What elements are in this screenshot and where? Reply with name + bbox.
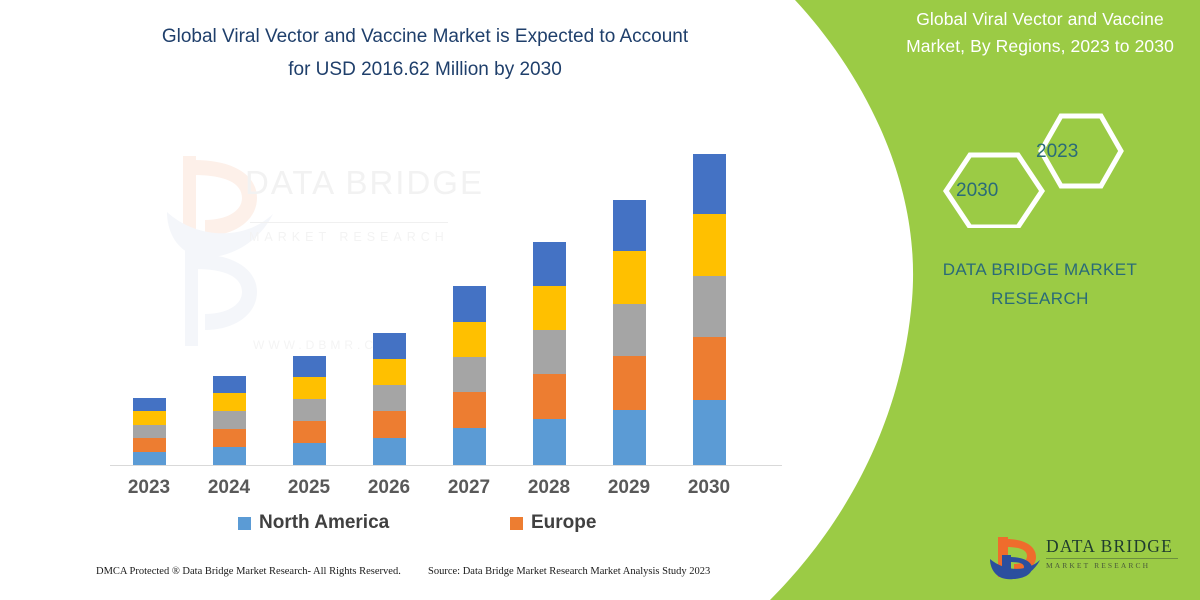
x-axis-label-2027: 2027 [429,477,509,499]
logo-text-block: DATA BRIDGE MARKET RESEARCH [1046,536,1186,570]
x-axis-line [110,465,782,466]
legend-item-europe[interactable]: Europe [510,512,596,534]
x-axis-label-2028: 2028 [509,477,589,499]
bar-segment-middle-east-and-africa [293,356,326,377]
logo-mark-icon [988,533,1044,583]
bar-segment-north-america [453,428,486,466]
panel-brand-name: DATA BRIDGE MARKET RESEARCH [880,255,1200,313]
bar-segment-asia-pacific [133,425,166,438]
bar-2030[interactable] [693,154,726,466]
legend-swatch-icon [510,517,523,530]
infographic-root: Global Viral Vector and Vaccine Market, … [0,0,1200,600]
chart-title-line-1: Global Viral Vector and Vaccine Market i… [60,20,790,53]
bar-segment-south-america [373,359,406,385]
bar-segment-south-america [613,251,646,304]
footer-copyright: DMCA Protected ® Data Bridge Market Rese… [96,566,401,577]
bar-segment-asia-pacific [693,276,726,337]
bar-segment-europe [693,337,726,400]
bar-segment-asia-pacific [533,330,566,374]
bar-segment-asia-pacific [373,385,406,411]
bar-segment-north-america [533,419,566,466]
bar-segment-middle-east-and-africa [693,154,726,214]
panel-title: Global Viral Vector and Vaccine Market, … [880,6,1200,60]
hexagon-2023-label: 2023 [1036,141,1078,163]
bar-segment-europe [533,374,566,419]
bar-segment-middle-east-and-africa [613,200,646,251]
bar-segment-middle-east-and-africa [373,333,406,359]
bar-segment-middle-east-and-africa [533,242,566,286]
chart-title-line-2: for USD 2016.62 Million by 2030 [60,53,790,86]
bar-2027[interactable] [453,286,486,466]
x-axis-label-2024: 2024 [189,477,269,499]
panel-title-line-2: Market, By Regions, 2023 to 2030 [880,33,1200,60]
bar-segment-south-america [213,393,246,411]
x-axis-label-2026: 2026 [349,477,429,499]
bar-segment-europe [453,392,486,428]
x-axis-label-2030: 2030 [669,477,749,499]
x-axis-labels: 20232024202520262027202820292030 [110,477,782,505]
bar-segment-north-america [293,443,326,466]
x-axis-label-2025: 2025 [269,477,349,499]
bar-2028[interactable] [533,242,566,466]
hexagon-svg [910,108,1170,228]
green-panel-content: Global Viral Vector and Vaccine Market, … [880,0,1200,600]
bar-2026[interactable] [373,333,406,466]
bar-segment-asia-pacific [293,399,326,421]
bar-segment-north-america [693,400,726,466]
chart-title: Global Viral Vector and Vaccine Market i… [60,20,790,86]
x-axis-label-2023: 2023 [109,477,189,499]
chart-legend: North AmericaEurope [110,512,782,540]
legend-item-north-america[interactable]: North America [238,512,389,534]
bar-segment-north-america [133,452,166,466]
bar-segment-europe [213,429,246,447]
footer-source: Source: Data Bridge Market Research Mark… [428,566,710,577]
logo-divider [1046,558,1178,559]
data-bridge-logo: DATA BRIDGE MARKET RESEARCH [988,533,1188,585]
hexagon-2030-label: 2030 [956,180,998,202]
bar-segment-south-america [693,214,726,276]
bar-segment-middle-east-and-africa [133,398,166,411]
bar-segment-south-america [133,411,166,425]
bar-segment-middle-east-and-africa [453,286,486,322]
bar-segment-south-america [533,286,566,330]
hexagon-group: 2030 2023 [910,108,1170,228]
bar-segment-north-america [213,447,246,466]
footer: DMCA Protected ® Data Bridge Market Rese… [0,566,790,590]
bar-2024[interactable] [213,376,246,466]
legend-swatch-icon [238,517,251,530]
bar-2025[interactable] [293,356,326,466]
bar-segment-north-america [373,438,406,466]
bar-segment-europe [133,438,166,452]
panel-title-line-1: Global Viral Vector and Vaccine [880,6,1200,33]
bar-segment-asia-pacific [213,411,246,429]
panel-brand-line-2: RESEARCH [880,284,1200,313]
panel-brand-line-1: DATA BRIDGE MARKET [880,255,1200,284]
bar-2029[interactable] [613,200,646,466]
logo-name: DATA BRIDGE [1046,536,1186,556]
bar-segment-europe [373,411,406,438]
legend-label: Europe [531,512,596,534]
bar-segment-asia-pacific [613,304,646,356]
bar-chart-plot [110,140,780,466]
logo-tagline: MARKET RESEARCH [1046,561,1186,570]
legend-label: North America [259,512,389,534]
bar-segment-south-america [453,322,486,357]
bar-segment-middle-east-and-africa [213,376,246,393]
bar-segment-asia-pacific [453,357,486,392]
x-axis-label-2029: 2029 [589,477,669,499]
bar-2023[interactable] [133,398,166,466]
bar-segment-europe [613,356,646,410]
bar-segment-europe [293,421,326,443]
bar-segment-north-america [613,410,646,466]
bar-segment-south-america [293,377,326,399]
